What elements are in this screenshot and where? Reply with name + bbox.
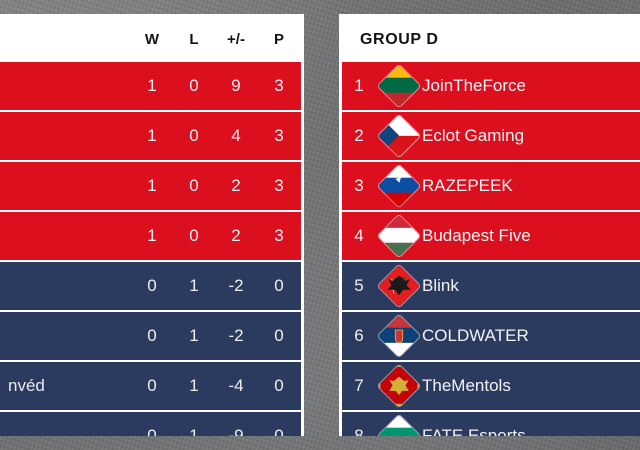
stat-w: 0: [131, 376, 173, 396]
stat-p: 3: [257, 176, 301, 196]
rank: 6: [342, 326, 376, 346]
bulgaria-flag-icon: [378, 415, 420, 436]
stat-l: 1: [173, 426, 215, 436]
rank: 1: [342, 76, 376, 96]
team-name: COLDWATER: [422, 326, 640, 346]
column-header-w: W: [131, 31, 173, 48]
table-row[interactable]: 6 COLDWATER: [342, 312, 640, 360]
stat-p: 0: [257, 426, 301, 436]
table-row[interactable]: 8 FATE Esports: [342, 412, 640, 436]
rank: 4: [342, 226, 376, 246]
stat-diff: -2: [215, 326, 257, 346]
group-header-row: GROUP D: [342, 17, 640, 62]
team-name: TheMentols: [422, 376, 640, 396]
stat-w: 1: [131, 126, 173, 146]
stat-l: 0: [173, 76, 215, 96]
stat-diff: 2: [215, 226, 257, 246]
table-row[interactable]: 1 JoinTheForce: [342, 62, 640, 110]
stat-diff: -2: [215, 276, 257, 296]
table-row[interactable]: 1 0 4 3: [0, 112, 301, 160]
table-row[interactable]: 1 0 2 3: [0, 162, 301, 210]
stat-diff: 4: [215, 126, 257, 146]
stat-l: 0: [173, 126, 215, 146]
table-row[interactable]: 2 Eclot Gaming: [342, 112, 640, 160]
table-row[interactable]: 7 TheMentols: [342, 362, 640, 410]
standings-table-left: W L +/- P 1 0 9 3 1 0 4 3 1 0 2 3 1 0 2 …: [0, 14, 304, 436]
flag-cell: [376, 371, 422, 401]
table-row[interactable]: 1 0 9 3: [0, 62, 301, 110]
standings-table-group-d: GROUP D 1 JoinTheForce 2: [339, 14, 640, 436]
team-name: RAZEPEEK: [422, 176, 640, 196]
column-header-l: L: [173, 31, 215, 48]
stat-l: 0: [173, 176, 215, 196]
stat-p: 3: [257, 226, 301, 246]
serbia-flag-icon: [378, 315, 420, 357]
flag-cell: [376, 121, 422, 151]
stat-l: 1: [173, 276, 215, 296]
team-name: JoinTheForce: [422, 76, 640, 96]
column-header-p: P: [257, 31, 301, 48]
table-row[interactable]: nvéd 0 1 -4 0: [0, 362, 301, 410]
table-row[interactable]: 4 Budapest Five: [342, 212, 640, 260]
rank: 3: [342, 176, 376, 196]
stat-p: 3: [257, 76, 301, 96]
stat-l: 1: [173, 326, 215, 346]
rank: 5: [342, 276, 376, 296]
stat-p: 0: [257, 376, 301, 396]
team-name: nvéd: [0, 376, 131, 396]
stat-p: 0: [257, 276, 301, 296]
stat-l: 1: [173, 376, 215, 396]
czechia-flag-icon: [378, 115, 420, 157]
team-name: Budapest Five: [422, 226, 640, 246]
team-name: FATE Esports: [422, 426, 640, 436]
stat-diff: 9: [215, 76, 257, 96]
table-row[interactable]: 1 0 2 3: [0, 212, 301, 260]
flag-cell: [376, 321, 422, 351]
flag-cell: 🏴: [376, 271, 422, 301]
stat-w: 0: [131, 276, 173, 296]
table-row[interactable]: 0 1 -9 0: [0, 412, 301, 436]
rank: 2: [342, 126, 376, 146]
stat-w: 1: [131, 176, 173, 196]
stat-w: 0: [131, 326, 173, 346]
group-title: GROUP D: [342, 31, 439, 49]
stat-diff: -9: [215, 426, 257, 436]
table-row[interactable]: 0 1 -2 0: [0, 262, 301, 310]
table-row[interactable]: 3 ▲ RAZEPEEK: [342, 162, 640, 210]
table-row[interactable]: 0 1 -2 0: [0, 312, 301, 360]
left-table-header-row: W L +/- P: [0, 17, 301, 62]
table-row[interactable]: 5 🏴 Blink: [342, 262, 640, 310]
team-name: Blink: [422, 276, 640, 296]
stat-diff: -4: [215, 376, 257, 396]
team-name: Eclot Gaming: [422, 126, 640, 146]
montenegro-flag-icon: [378, 365, 420, 407]
rank: 7: [342, 376, 376, 396]
slovenia-flag-icon: ▲: [378, 165, 420, 207]
stat-w: 1: [131, 76, 173, 96]
hungary-flag-icon: [378, 215, 420, 257]
column-header-diff: +/-: [215, 31, 257, 48]
flag-cell: ▲: [376, 171, 422, 201]
stat-diff: 2: [215, 176, 257, 196]
flag-cell: [376, 221, 422, 251]
stat-w: 1: [131, 226, 173, 246]
stat-p: 3: [257, 126, 301, 146]
lithuania-flag-icon: [378, 65, 420, 107]
stat-p: 0: [257, 326, 301, 346]
rank: 8: [342, 426, 376, 436]
flag-cell: [376, 71, 422, 101]
stat-w: 0: [131, 426, 173, 436]
stat-l: 0: [173, 226, 215, 246]
flag-cell: [376, 421, 422, 436]
albania-flag-icon: 🏴: [378, 265, 420, 307]
